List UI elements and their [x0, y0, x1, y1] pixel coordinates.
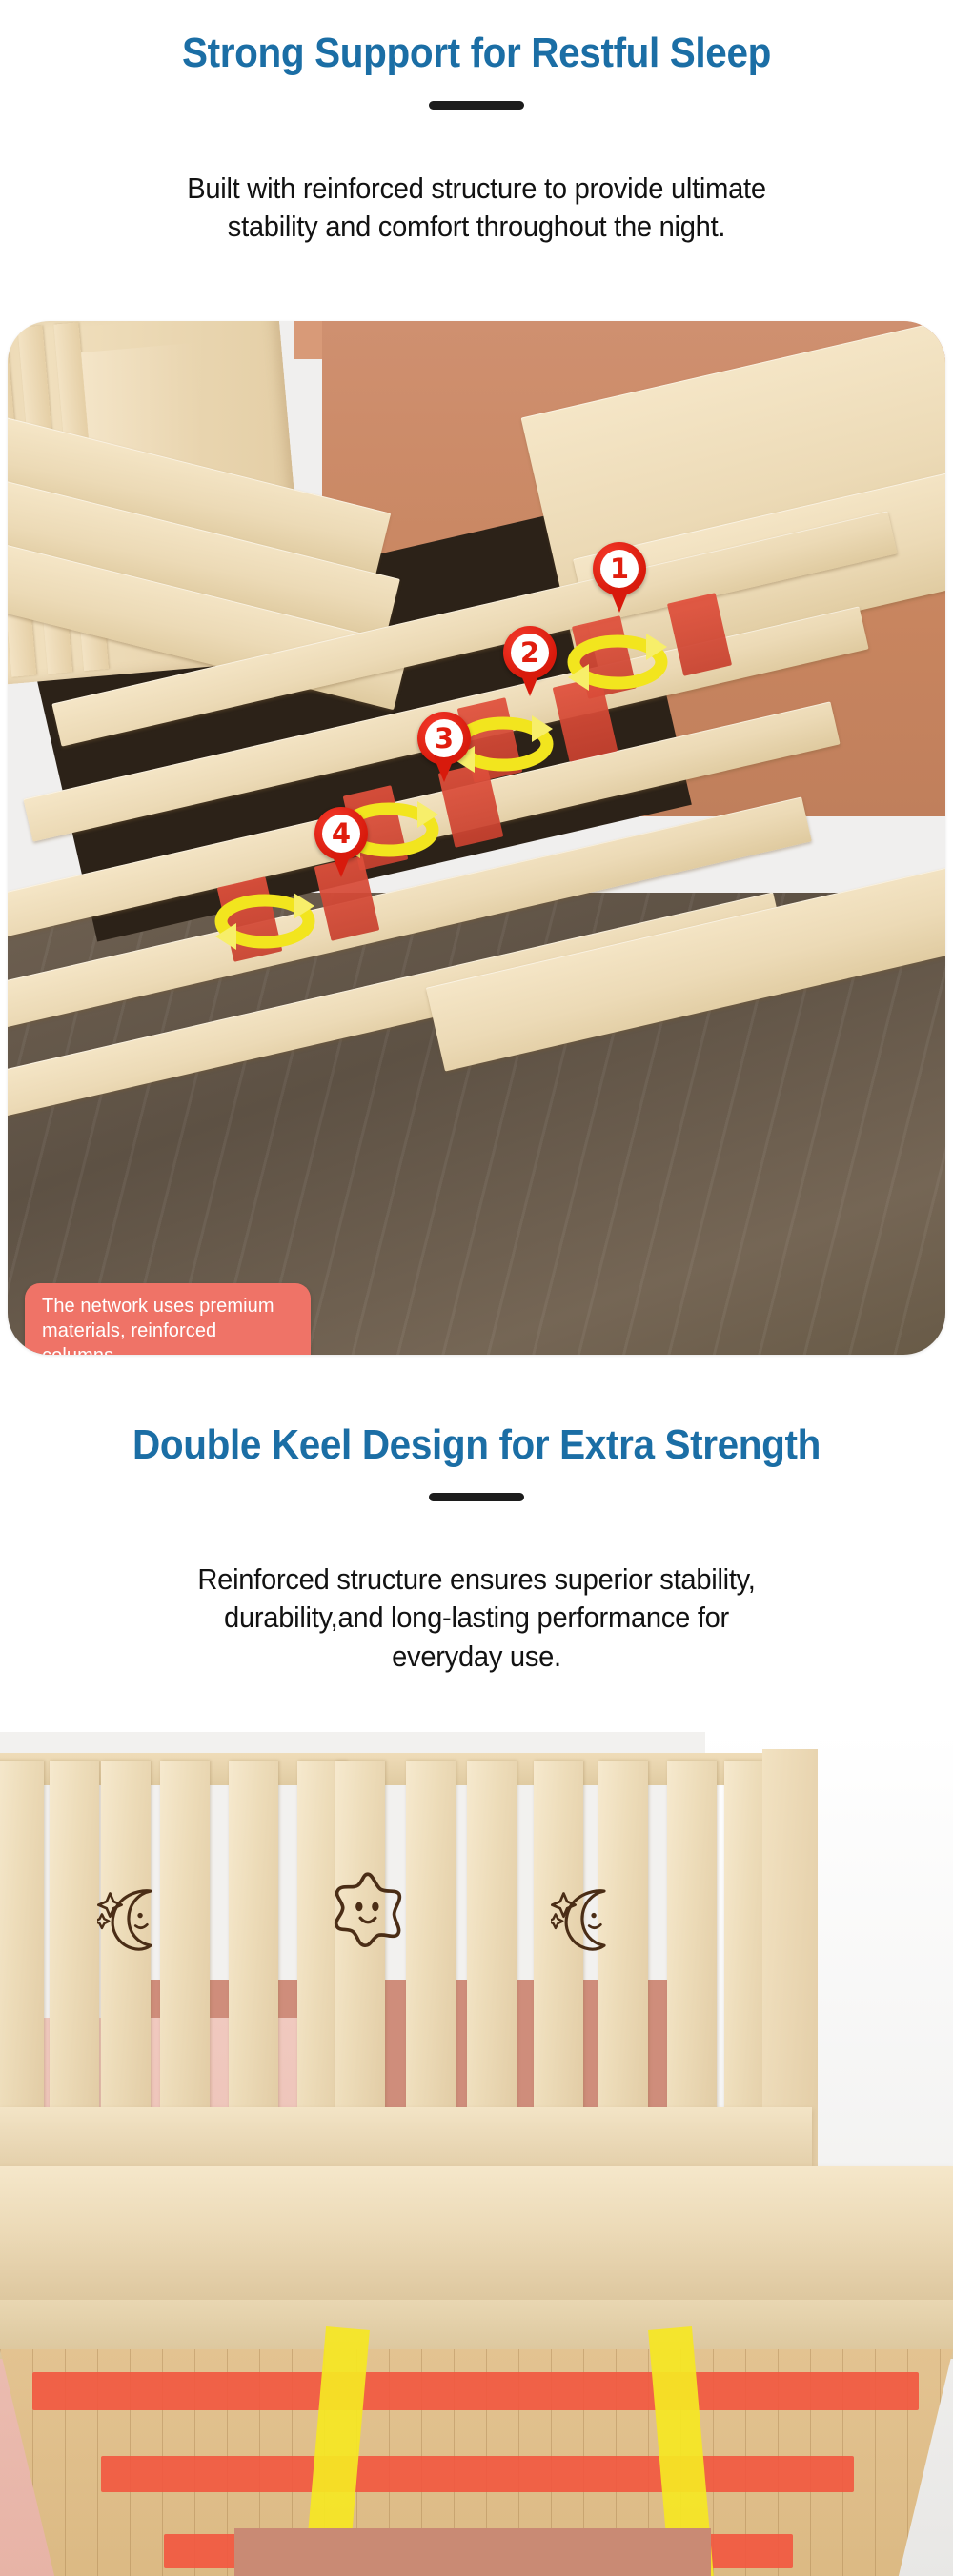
title-divider [429, 101, 524, 110]
callout-marker-3: 3 [417, 712, 471, 782]
rotation-arrow-icon [208, 883, 322, 957]
bed-base-photo: 1 2 3 4 The network uses premium materia… [8, 321, 945, 1355]
guard-rail-post [467, 1761, 517, 2113]
marker-number: 1 [600, 550, 639, 588]
section-strong-support-subtext: Built with reinforced structure to provi… [0, 170, 953, 247]
keel-beam-red [32, 2372, 919, 2410]
callout-marker-4: 4 [314, 807, 368, 877]
product-detail-page: Strong Support for Restful Sleep Built w… [0, 0, 953, 2576]
callout-marker-2: 2 [503, 626, 557, 696]
guard-rail-post [0, 1761, 44, 2113]
section-double-keel-header: Double Keel Design for Extra Strength [0, 1422, 953, 1501]
subtext-line: Built with reinforced structure to provi… [29, 170, 924, 208]
subtext-line: stability and comfort throughout the nig… [29, 208, 924, 246]
marker-number: 2 [511, 634, 549, 672]
moon-star-icon [97, 1875, 172, 1961]
guard-rail-post [667, 1761, 717, 2113]
marker-number: 3 [425, 719, 463, 757]
subtext-line: Reinforced structure ensures superior st… [29, 1560, 924, 1599]
marker-number: 4 [322, 815, 360, 853]
bed-frame-beam [0, 2166, 953, 2309]
callout-marker-1: 1 [593, 542, 646, 613]
page-title: Double Keel Design for Extra Strength [38, 1422, 915, 1468]
guard-rail-post [406, 1761, 456, 2113]
subtext-line: everyday use. [29, 1638, 924, 1676]
title-divider [429, 1493, 524, 1501]
page-title: Strong Support for Restful Sleep [38, 30, 915, 76]
caption-line: The network uses premium [42, 1294, 294, 1318]
double-keel-photo [0, 1732, 953, 2576]
guard-rail-post [229, 1761, 278, 2113]
smiling-star-icon [328, 1865, 408, 1953]
guard-rail-post [50, 1761, 99, 2113]
caption-line: materials, reinforced columns. [42, 1318, 294, 1355]
keel-beam-red [101, 2456, 854, 2492]
room-wall-footer [234, 2528, 711, 2576]
guard-rail-end-post [762, 1749, 818, 2168]
rotation-arrow-icon [560, 624, 675, 698]
photo-caption: The network uses premium materials, rein… [25, 1283, 311, 1355]
guard-rail-bottom-bar [0, 2107, 812, 2166]
subtext-line: durability,and long-lasting performance … [29, 1599, 924, 1637]
section-strong-support-header: Strong Support for Restful Sleep [0, 30, 953, 110]
moon-star-icon [551, 1875, 625, 1961]
section-double-keel-subtext: Reinforced structure ensures superior st… [0, 1560, 953, 1676]
